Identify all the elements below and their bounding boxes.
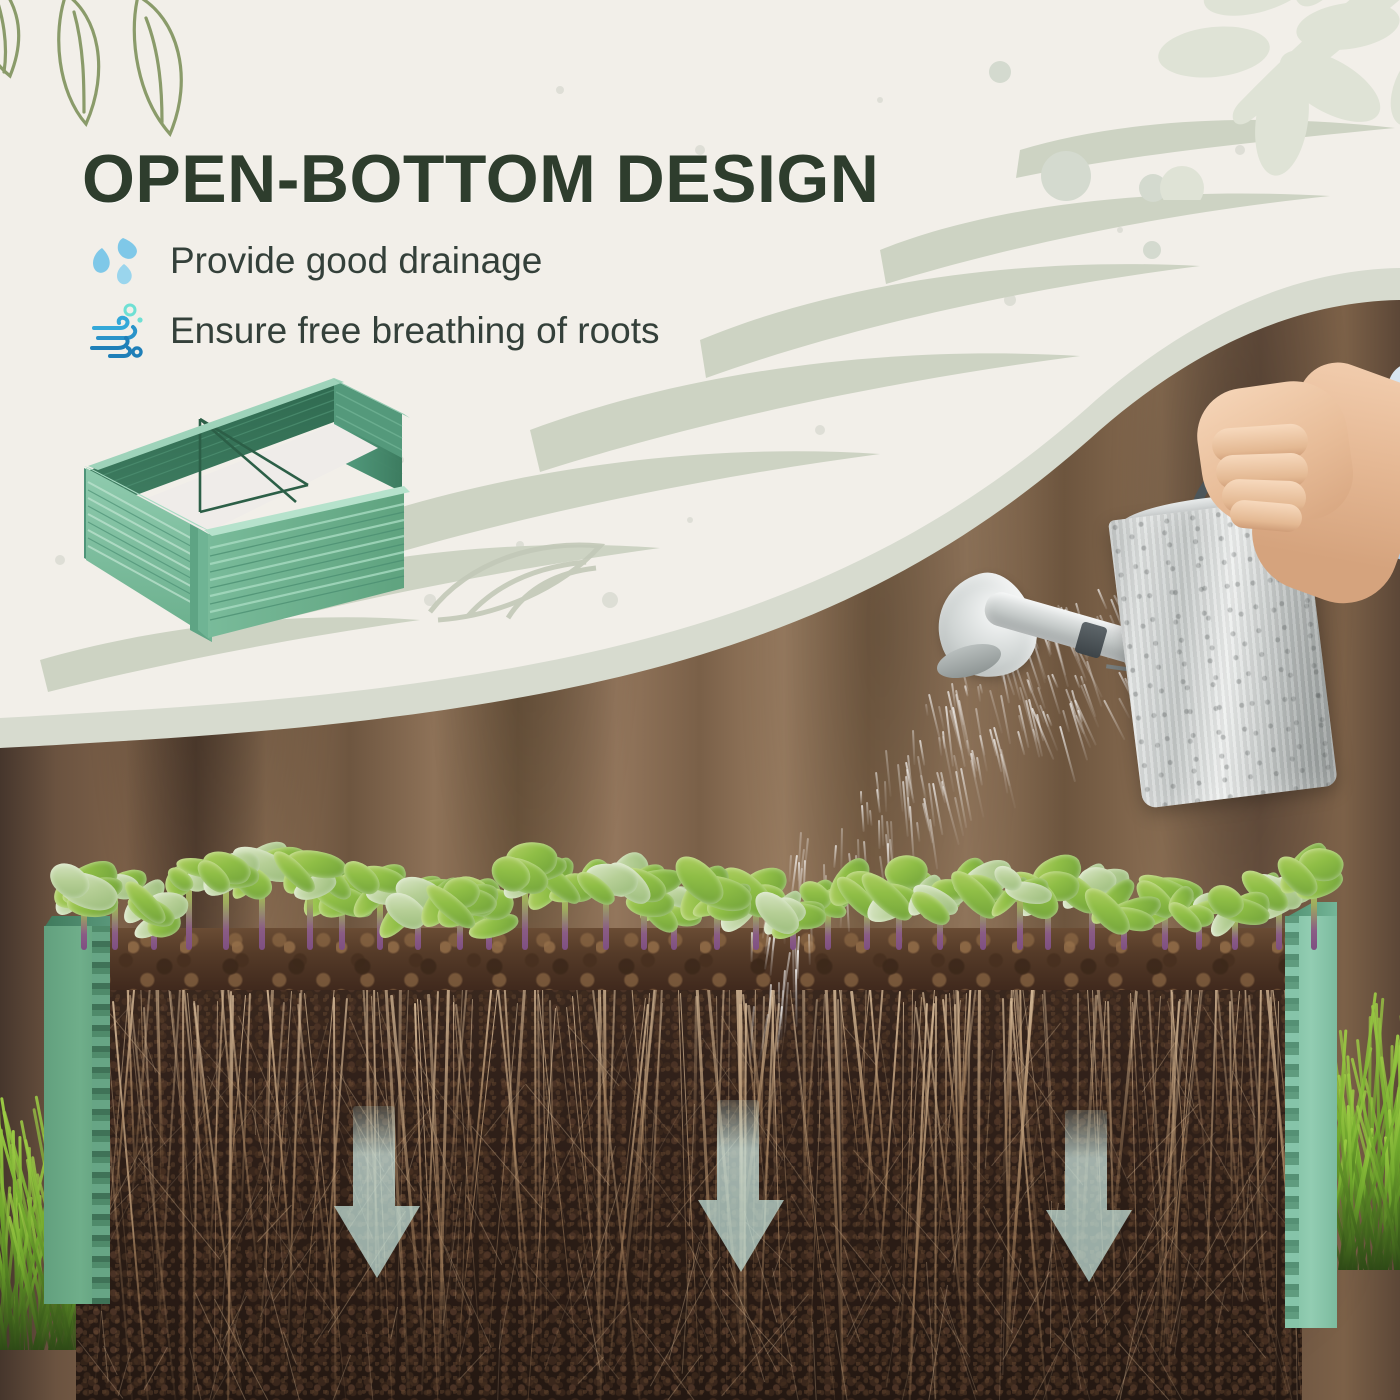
rootlet: [1215, 1288, 1226, 1334]
arrow-stem: [1065, 1110, 1107, 1218]
water-drops-icon: [90, 232, 148, 290]
downward-drainage-arrow: [698, 1100, 784, 1272]
rootlet: [1071, 1331, 1092, 1400]
product-feature-graphic: OPEN-BOTTOM DESIGN Provide good drainage: [0, 0, 1400, 1400]
seedling: [209, 826, 243, 950]
seedling: [700, 846, 734, 950]
water-droplet: [878, 820, 880, 849]
leaf-branch-silhouette-decor: [1130, 0, 1400, 200]
root: [542, 981, 548, 1322]
raised-bed-illustration: [72, 362, 412, 652]
seedling: [1003, 832, 1037, 950]
seedling: [923, 849, 957, 950]
rootlet: [497, 1320, 501, 1400]
rootlet: [543, 1122, 565, 1223]
bed-wall-left: [44, 926, 110, 1304]
seedling: [1218, 862, 1252, 950]
rootlet: [316, 1205, 317, 1300]
rootlet: [442, 1182, 461, 1326]
seedling: [293, 826, 327, 950]
water-droplet: [797, 949, 799, 978]
soil-cross-section: [76, 928, 1302, 1400]
root: [486, 1003, 518, 1373]
seedling: [67, 844, 101, 950]
water-droplet: [916, 822, 920, 842]
rootlet: [289, 999, 318, 1111]
rootlet: [77, 1340, 123, 1399]
rootlet: [189, 1348, 205, 1400]
feature-label: Ensure free breathing of roots: [170, 310, 660, 352]
seedling: [1297, 829, 1331, 950]
rootlet: [843, 1245, 862, 1302]
rootlet: [544, 1233, 592, 1370]
product-image-raised-garden-bed: [72, 362, 412, 652]
rootlet: [846, 1282, 875, 1338]
downward-drainage-arrow: [1046, 1110, 1132, 1282]
downward-drainage-arrow: [334, 1106, 420, 1278]
rootlet: [484, 1085, 525, 1137]
arrow-stem: [353, 1106, 395, 1214]
water-droplet: [861, 805, 865, 832]
seedling: [1107, 857, 1141, 950]
rootlet: [1243, 1330, 1266, 1359]
root: [945, 994, 947, 1183]
rootlet: [284, 1047, 289, 1183]
rootlet: [1018, 1023, 1061, 1076]
root: [635, 993, 650, 1259]
arrow-head: [1046, 1210, 1132, 1282]
seedling: [966, 836, 1000, 950]
seedling: [137, 862, 171, 950]
root: [976, 979, 981, 1334]
rootlet: [835, 1330, 854, 1400]
feature-item-drainage: Provide good drainage: [90, 232, 542, 290]
bed-wall-right-corrugation: [1285, 916, 1299, 1328]
seedling: [627, 841, 661, 950]
seedling: [589, 823, 623, 950]
arrow-stem: [717, 1100, 759, 1208]
page-title: OPEN-BOTTOM DESIGN: [82, 140, 879, 218]
root: [182, 981, 185, 1400]
arrow-head: [334, 1206, 420, 1278]
wind-breeze-icon: [90, 302, 148, 360]
rootlet: [812, 1322, 818, 1400]
seedling: [776, 860, 810, 950]
rootlet: [366, 1332, 375, 1400]
seedling: [882, 839, 916, 950]
bed-wall-right: [1285, 916, 1337, 1328]
rootlet: [143, 1347, 167, 1390]
seedling: [443, 856, 477, 950]
feature-label: Provide good drainage: [170, 240, 542, 282]
water-droplet: [884, 780, 887, 811]
rootlet: [984, 1050, 992, 1169]
water-droplet: [860, 791, 862, 804]
leaf-branch-outline-decor: [0, 0, 260, 150]
seedling: [508, 824, 542, 950]
rootlet: [791, 1196, 811, 1228]
rootlet: [612, 1340, 632, 1371]
rootlet: [459, 1350, 488, 1381]
bed-wall-left-corrugation: [92, 926, 110, 1304]
arrow-head: [698, 1200, 784, 1272]
feature-item-breathing: Ensure free breathing of roots: [90, 302, 660, 360]
